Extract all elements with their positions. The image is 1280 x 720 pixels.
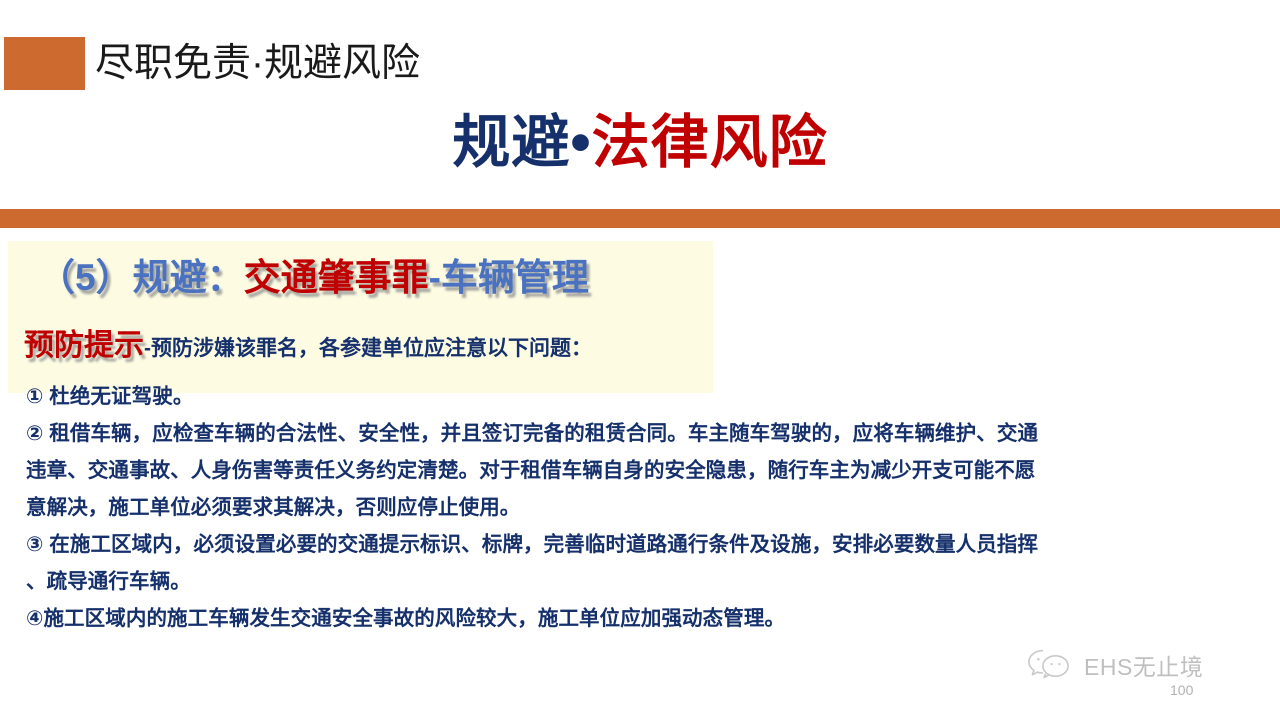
body-line-5: ③ 在施工区域内，必须设置必要的交通提示标识、标牌，完善临时道路通行条件及设施，…: [26, 526, 1271, 563]
section-heading-suffix: -车辆管理: [429, 257, 589, 298]
section-heading-emphasis: 交通肇事罪: [244, 257, 429, 298]
body-text-area: ① 杜绝无证驾驶。 ② 租借车辆，应检查车辆的合法性、安全性，并且签订完备的租赁…: [26, 378, 1271, 637]
prevention-tip-label: 预防提示: [24, 329, 144, 362]
page-title-red-part: 法律风险: [592, 110, 828, 175]
header-accent-block: [4, 37, 85, 90]
prevention-tip-line: 预防提示-预防涉嫌该罪名，各参建单位应注意以下问题：: [24, 327, 592, 368]
watermark: EHS无止境: [1026, 648, 1203, 685]
wechat-icon: [1026, 648, 1078, 685]
orange-divider: [0, 209, 1280, 228]
body-line-7: ④施工区域内的施工车辆发生交通安全事故的风险较大，施工单位应加强动态管理。: [26, 600, 1271, 637]
body-line-4: 意解决，施工单位必须要求其解决，否则应停止使用。: [26, 489, 1271, 526]
section-heading: （5）规避：交通肇事罪-车辆管理: [38, 254, 589, 302]
section-heading-prefix: （5）规避：: [38, 257, 244, 298]
header-title: 尽职免责·规避风险: [95, 38, 420, 90]
prevention-tip-text: 预防涉嫌该罪名，各参建单位应注意以下问题：: [151, 337, 592, 360]
prevention-tip-dash: -: [144, 337, 151, 360]
body-line-2: ② 租借车辆，应检查车辆的合法性、安全性，并且签订完备的租赁合同。车主随车驾驶的…: [26, 415, 1271, 452]
body-line-6: 、疏导通行车辆。: [26, 563, 1271, 600]
body-line-1: ① 杜绝无证驾驶。: [26, 378, 1271, 415]
page-title-blue-part: 规避: [452, 110, 570, 175]
watermark-text: EHS无止境: [1084, 653, 1203, 681]
body-line-3: 违章、交通事故、人身伤害等责任义务约定清楚。对于租借车辆自身的安全隐患，随行车主…: [26, 452, 1271, 489]
slide-canvas: 尽职免责·规避风险 规避•法律风险 （5）规避：交通肇事罪-车辆管理 预防提示-…: [0, 0, 1280, 720]
page-title: 规避•法律风险: [0, 106, 1280, 180]
page-number: 100: [1170, 681, 1193, 699]
page-title-separator: •: [570, 110, 591, 175]
